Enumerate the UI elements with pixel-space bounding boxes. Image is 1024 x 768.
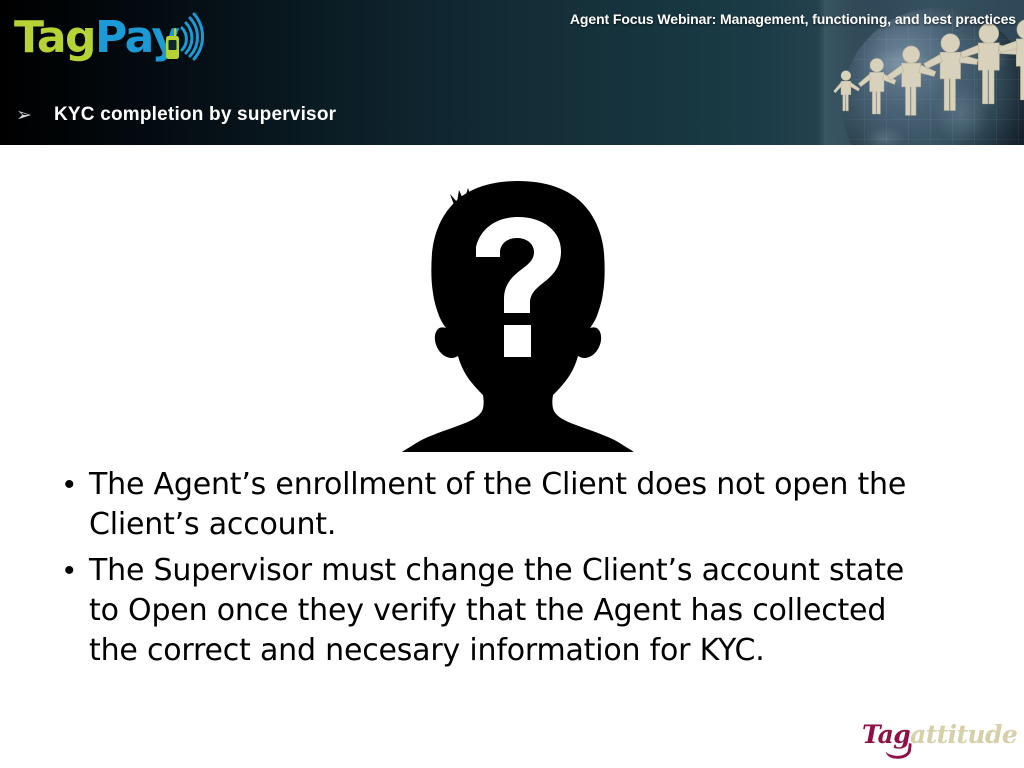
slide-header: TagPay Agent Focus Webinar: Management, … bbox=[0, 0, 1024, 145]
tagattitude-logo: Tagattitude bbox=[862, 722, 1014, 762]
anonymous-head-question-mark-icon bbox=[396, 177, 640, 452]
section-heading: ➢ KYC completion by supervisor bbox=[16, 104, 336, 126]
tagattitude-swoosh-icon bbox=[885, 741, 912, 761]
tagpay-logo: TagPay bbox=[14, 12, 204, 74]
tagpay-tag-text: Tag bbox=[14, 12, 95, 63]
list-item: • The Supervisor must change the Client’… bbox=[56, 551, 986, 671]
bullet-text: The Agent’s enrollment of the Client doe… bbox=[89, 465, 957, 545]
bullet-marker-icon: • bbox=[56, 551, 89, 591]
list-item: • The Agent’s enrollment of the Client d… bbox=[56, 465, 986, 545]
slide-body: • The Agent’s enrollment of the Client d… bbox=[0, 145, 1024, 768]
bullet-marker-icon: • bbox=[56, 465, 89, 505]
tagattitude-wordmark: Tagattitude bbox=[862, 722, 1017, 747]
slide: TagPay Agent Focus Webinar: Management, … bbox=[0, 0, 1024, 768]
phone-signal-icon bbox=[154, 12, 224, 72]
page-title: Agent Focus Webinar: Management, functio… bbox=[570, 11, 1016, 27]
bullet-list: • The Agent’s enrollment of the Client d… bbox=[56, 465, 986, 677]
tagattitude-attitude-text: attitude bbox=[910, 720, 1017, 749]
arrow-bullet-icon: ➢ bbox=[16, 106, 54, 125]
bullet-text: The Supervisor must change the Client’s … bbox=[89, 551, 941, 671]
section-heading-label: KYC completion by supervisor bbox=[54, 104, 336, 126]
